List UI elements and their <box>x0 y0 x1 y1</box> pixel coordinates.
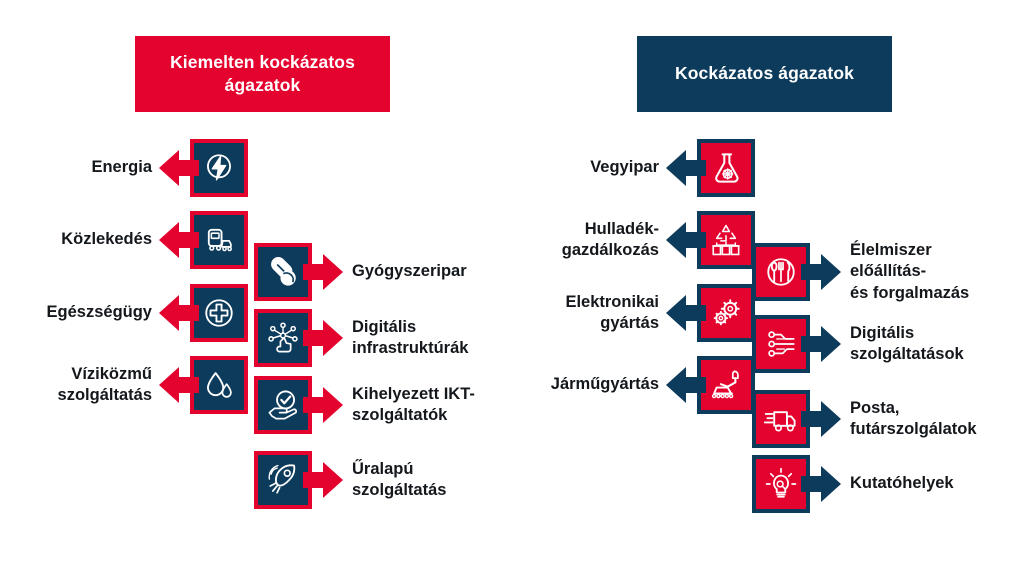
left-group-banner: Kiemelten kockázatos ágazatok <box>135 36 390 112</box>
arrow-right-icon <box>303 459 343 501</box>
recycling-bins-icon <box>709 223 743 257</box>
lightning-bolt-icon <box>202 151 236 185</box>
network-touch-icon <box>266 321 300 355</box>
pills-capsule-icon <box>266 255 300 289</box>
sector-label-posta: Posta, futárszolgálatok <box>841 398 977 441</box>
sector-row-elelmiszer[interactable]: Élelmiszer előállítás- és forgalmazás <box>752 240 969 304</box>
bus-car-icon <box>202 223 236 257</box>
gears-icon <box>709 296 743 330</box>
chemical-flask-icon <box>709 151 743 185</box>
sector-label-hulladekgazdalkozas: Hulladék- gazdálkozás <box>494 219 666 262</box>
arrow-right-icon <box>303 384 343 426</box>
sector-label-egeszsegugy: Egészségügy <box>0 302 159 323</box>
arrow-right-icon <box>801 463 841 505</box>
sector-row-uralapu[interactable]: Űralapú szolgáltatás <box>254 451 446 509</box>
sector-label-elektronikai-gyartas: Elektronikai gyártás <box>494 292 666 335</box>
circuit-icon <box>764 327 798 361</box>
arrow-left-icon <box>666 292 706 334</box>
right-group-banner-title: Kockázatos ágazatok <box>675 62 854 85</box>
rocket-icon <box>266 463 300 497</box>
sector-row-vizikozmu[interactable]: Víziközmű szolgáltatás <box>0 356 248 414</box>
sector-row-energia[interactable]: Energia <box>0 139 248 197</box>
arrow-left-icon <box>666 219 706 261</box>
sector-row-kihelyezett-ikt[interactable]: Kihelyezett IKT- szolgáltatók <box>254 376 475 434</box>
sector-row-kutatohelyek[interactable]: Kutatóhelyek <box>752 455 954 513</box>
arrow-left-icon <box>666 364 706 406</box>
sector-label-kutatohelyek: Kutatóhelyek <box>841 473 954 494</box>
sector-row-vegyipar[interactable]: Vegyipar <box>505 139 755 197</box>
sector-row-posta[interactable]: Posta, futárszolgálatok <box>752 390 977 448</box>
sector-label-uralapu: Űralapú szolgáltatás <box>343 459 446 502</box>
arrow-right-icon <box>303 251 343 293</box>
sector-label-kozlekedes: Közlekedés <box>0 229 159 250</box>
sector-label-jarmugyartas: Járműgyártás <box>494 374 666 395</box>
sector-label-kihelyezett-ikt: Kihelyezett IKT- szolgáltatók <box>343 384 475 427</box>
sector-label-digitalis-infrastrukturak: Digitális infrastruktúrák <box>343 317 468 360</box>
arrow-left-icon <box>159 292 199 334</box>
sector-row-jarmugyartas[interactable]: Járműgyártás <box>505 356 755 414</box>
arrow-left-icon <box>159 147 199 189</box>
sector-label-vizikozmu: Víziközmű szolgáltatás <box>0 364 159 407</box>
sector-row-gyogyszeripar[interactable]: Gyógyszeripar <box>254 243 467 301</box>
arrow-left-icon <box>159 364 199 406</box>
lightbulb-research-icon <box>764 467 798 501</box>
sector-label-energia: Energia <box>0 157 159 178</box>
sector-row-kozlekedes[interactable]: Közlekedés <box>0 211 248 269</box>
sector-label-vegyipar: Vegyipar <box>494 157 666 178</box>
left-group-banner-title: Kiemelten kockázatos ágazatok <box>149 51 376 97</box>
medical-cross-icon <box>202 296 236 330</box>
arrow-right-icon <box>801 251 841 293</box>
arrow-left-icon <box>159 219 199 261</box>
sector-label-digitalis-szolgaltatasok: Digitális szolgáltatások <box>841 323 964 366</box>
sector-row-elektronikai-gyartas[interactable]: Elektronikai gyártás <box>505 284 755 342</box>
sector-row-digitalis-szolgaltatasok[interactable]: Digitális szolgáltatások <box>752 315 964 373</box>
arrow-right-icon <box>303 317 343 359</box>
right-group-banner: Kockázatos ágazatok <box>637 36 892 112</box>
sector-row-digitalis-infrastrukturak[interactable]: Digitális infrastruktúrák <box>254 309 468 367</box>
hand-check-icon <box>266 388 300 422</box>
sector-row-hulladekgazdalkozas[interactable]: Hulladék- gazdálkozás <box>505 211 755 269</box>
infographic-canvas: Kiemelten kockázatos ágazatok Kockázatos… <box>0 0 1024 576</box>
sector-label-gyogyszeripar: Gyógyszeripar <box>343 261 467 282</box>
sector-row-egeszsegugy[interactable]: Egészségügy <box>0 284 248 342</box>
cutlery-plate-icon <box>764 255 798 289</box>
arrow-right-icon <box>801 398 841 440</box>
arrow-left-icon <box>666 147 706 189</box>
delivery-truck-icon <box>764 402 798 436</box>
robot-arm-car-icon <box>709 368 743 402</box>
water-drops-icon <box>202 368 236 402</box>
sector-label-elelmiszer: Élelmiszer előállítás- és forgalmazás <box>841 240 969 304</box>
arrow-right-icon <box>801 323 841 365</box>
